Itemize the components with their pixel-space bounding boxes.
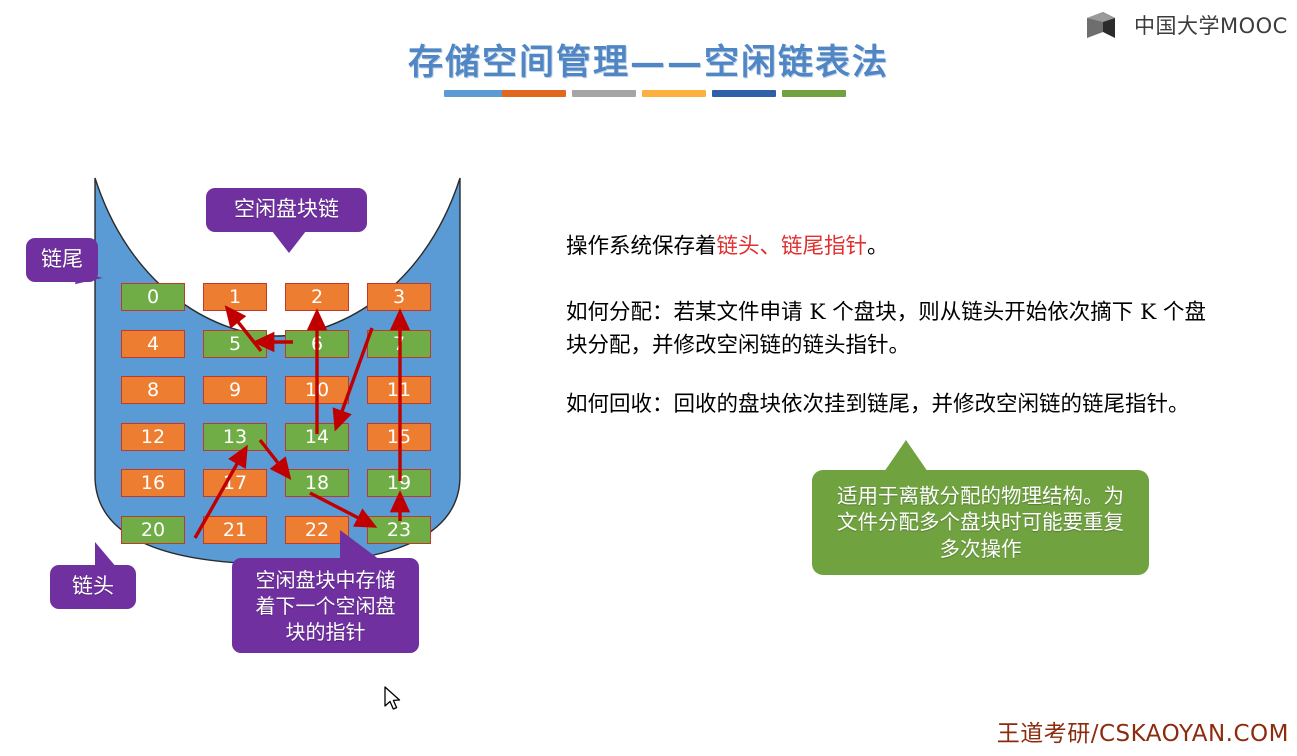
mooc-logo: 中国大学MOOC <box>1085 10 1288 40</box>
disk-block-16: 16 <box>121 469 185 497</box>
footer-brand: 王道考研/CSKAOYAN.COM <box>997 714 1289 748</box>
callout-limitation-label: 适用于离散分配的物理结构。为文件分配多个盘块时可能要重复多次操作 <box>828 483 1133 563</box>
bar-amber <box>642 90 706 97</box>
disk-block-7: 7 <box>367 330 431 358</box>
callout-limitation: 适用于离散分配的物理结构。为文件分配多个盘块时可能要重复多次操作 <box>812 470 1149 575</box>
paragraph-reclaim: 如何回收：回收的盘块依次挂到链尾，并修改空闲链的链尾指针。 <box>566 388 1214 421</box>
disk-block-21: 21 <box>203 516 267 544</box>
disk-block-6: 6 <box>285 330 349 358</box>
callout-chain-head: 链头 <box>50 565 136 609</box>
slide-canvas: 存储空间管理——空闲链表法 中国大学MOOC 01234567891011121… <box>0 0 1297 756</box>
callout-pointer-note-pointer <box>340 530 380 560</box>
callout-chain-head-pointer <box>95 542 117 568</box>
callout-pointer-note-label: 空闲盘块中存储着下一个空闲盘块的指针 <box>246 567 405 645</box>
disk-block-20: 20 <box>121 516 185 544</box>
bar-gray <box>572 90 636 97</box>
bar-navy <box>712 90 776 97</box>
paragraph-allocation: 如何分配：若某文件申请 K 个盘块，则从链头开始依次摘下 K 个盘块分配，并修改… <box>566 296 1214 363</box>
disk-block-15: 15 <box>367 423 431 451</box>
callout-free-chain-tail <box>272 231 306 253</box>
mooc-logo-text: 中国大学MOOC <box>1134 10 1288 40</box>
bar-orange <box>502 90 566 97</box>
mooc-book-icon <box>1085 10 1127 40</box>
disk-block-9: 9 <box>203 376 267 404</box>
callout-free-chain-label: 空闲盘块链 <box>234 196 339 223</box>
disk-block-14: 14 <box>285 423 349 451</box>
callout-chain-head-label: 链头 <box>72 573 114 600</box>
mouse-pointer-icon <box>384 686 402 712</box>
disk-block-18: 18 <box>285 469 349 497</box>
para1-suffix: 。 <box>867 234 889 259</box>
callout-limitation-pointer <box>884 440 928 472</box>
disk-block-12: 12 <box>121 423 185 451</box>
disk-block-2: 2 <box>285 283 349 311</box>
bar-green <box>782 90 846 97</box>
disk-block-1: 1 <box>203 283 267 311</box>
disk-block-4: 4 <box>121 330 185 358</box>
disk-block-11: 11 <box>367 376 431 404</box>
paragraph-os-pointers: 操作系统保存着链头、链尾指针。 <box>566 230 1216 263</box>
callout-free-chain: 空闲盘块链 <box>206 188 367 232</box>
para1-prefix: 操作系统保存着 <box>566 234 717 259</box>
para1-highlight: 链头、链尾指针 <box>717 234 868 259</box>
disk-block-5: 5 <box>203 330 267 358</box>
callout-chain-tail-label: 链尾 <box>41 246 83 273</box>
disk-block-19: 19 <box>367 469 431 497</box>
disk-block-0: 0 <box>121 283 185 311</box>
page-title: 存储空间管理——空闲链表法 <box>0 34 1297 85</box>
bar-blue <box>444 90 508 97</box>
disk-block-17: 17 <box>203 469 267 497</box>
disk-block-13: 13 <box>203 423 267 451</box>
callout-pointer-note: 空闲盘块中存储着下一个空闲盘块的指针 <box>232 558 419 653</box>
disk-block-8: 8 <box>121 376 185 404</box>
disk-block-10: 10 <box>285 376 349 404</box>
disk-block-3: 3 <box>367 283 431 311</box>
